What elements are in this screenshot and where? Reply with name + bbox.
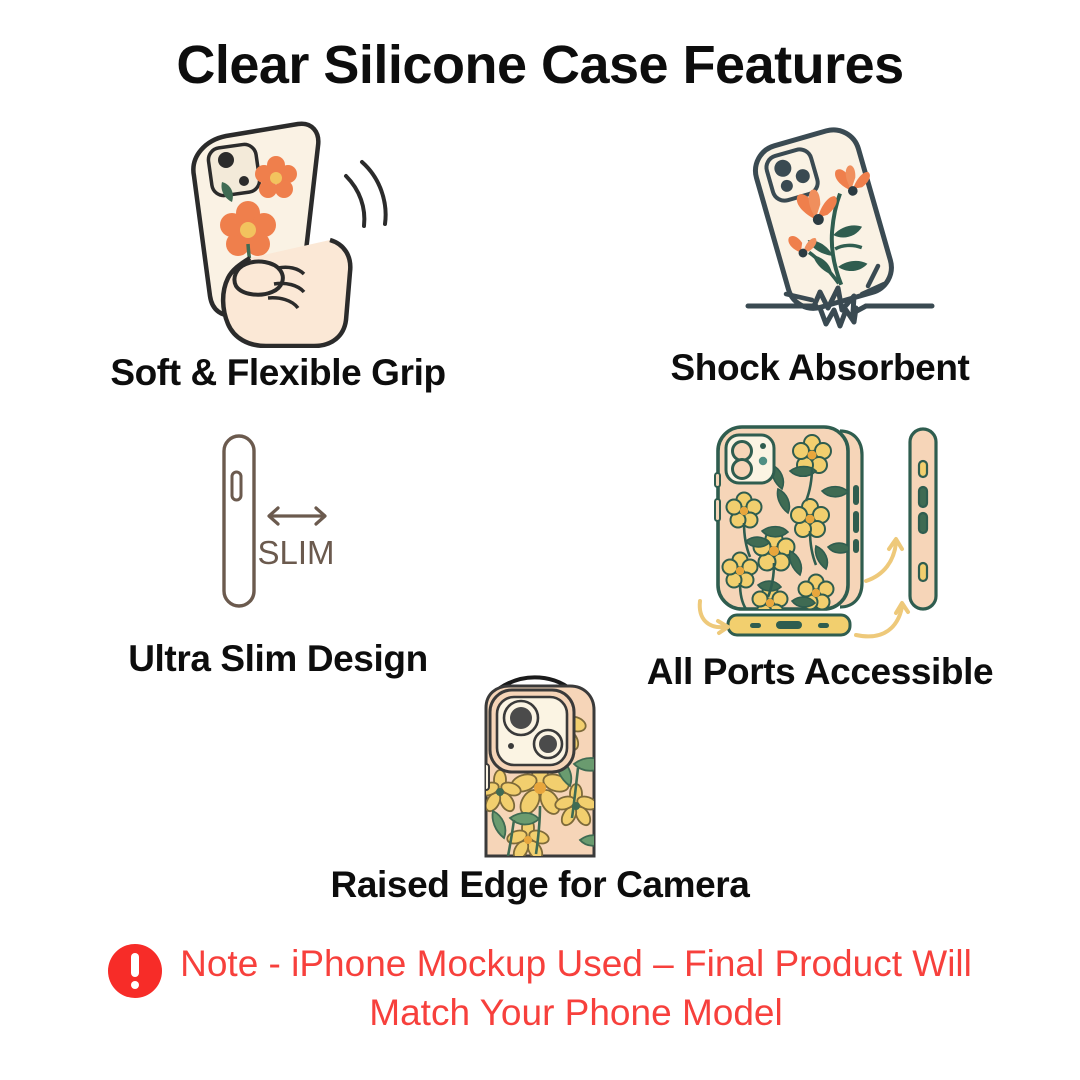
note-text: Note - iPhone Mockup Used – Final Produc…	[180, 940, 972, 1038]
phone-ports-edges-icon	[670, 415, 970, 645]
page-title: Clear Silicone Case Features	[0, 34, 1080, 96]
infographic-page: Clear Silicone Case Features	[0, 0, 1080, 1080]
feature-shock-absorbent: Shock Absorbent	[560, 118, 1080, 389]
exclamation-bar	[131, 953, 139, 977]
feature-label: Shock Absorbent	[560, 347, 1080, 389]
bottom-edge-view	[728, 615, 850, 635]
slim-caption: SLIM	[257, 534, 334, 571]
note-banner: Note - iPhone Mockup Used – Final Produc…	[0, 940, 1080, 1038]
feature-soft-flexible-grip: Soft & Flexible Grip	[18, 118, 538, 394]
phone-impact-ground-icon	[670, 118, 970, 333]
hand-flexing-phone-case-icon	[128, 118, 428, 348]
side-rail-view	[910, 429, 936, 609]
exclamation-dot	[131, 981, 139, 989]
feature-label: Soft & Flexible Grip	[18, 352, 538, 394]
exclamation-badge-icon	[108, 944, 162, 998]
feature-raised-edge-for-camera: Raised Edge for Camera	[270, 668, 810, 906]
phone-raised-camera-bump-icon	[390, 668, 690, 858]
phone-side-profile-slim-icon: SLIM	[128, 420, 428, 620]
feature-all-ports-accessible: All Ports Accessible	[560, 415, 1080, 693]
feature-ultra-slim-design: SLIM Ultra Slim Design	[18, 420, 538, 680]
note-line-2: Match Your Phone Model	[180, 989, 972, 1038]
feature-label: Raised Edge for Camera	[270, 864, 810, 906]
note-line-1: Note - iPhone Mockup Used – Final Produc…	[180, 943, 972, 984]
